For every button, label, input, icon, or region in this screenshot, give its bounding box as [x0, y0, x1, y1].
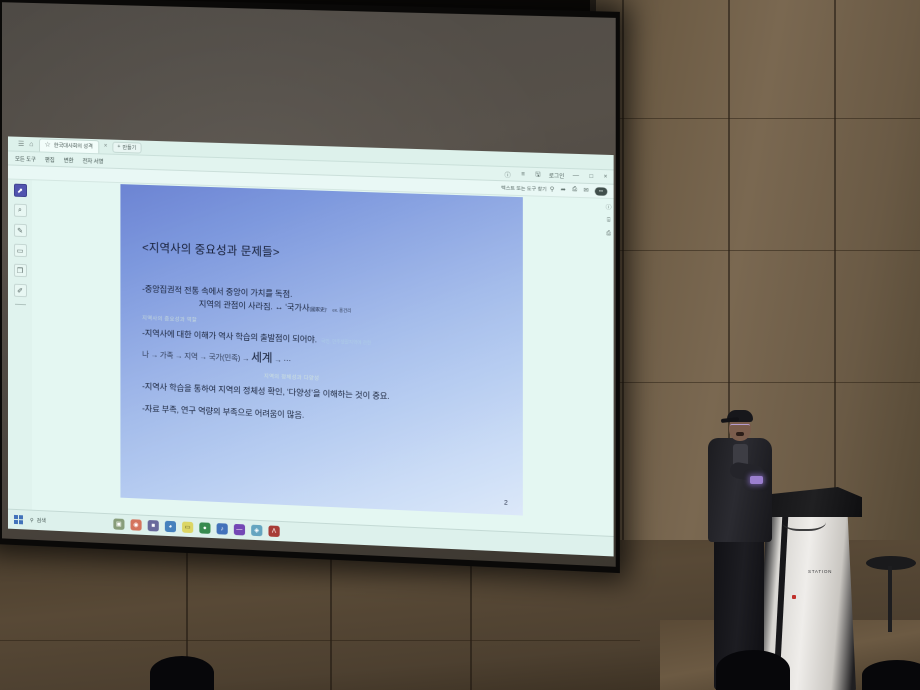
tools-rail-icon[interactable]: ⎙ — [606, 231, 611, 238]
photos-icon[interactable]: ◈ — [251, 525, 262, 537]
presenter — [700, 404, 782, 690]
signature-tool-button[interactable]: ✐ — [13, 284, 26, 297]
signature-icon: ✐ — [17, 286, 23, 294]
list-icon[interactable]: ≡ — [519, 172, 527, 178]
audience-head-1 — [150, 656, 214, 690]
toolbar-divider — [14, 304, 25, 305]
audience-head-2 — [716, 650, 790, 690]
pdf-viewer-window[interactable]: hamburger-icon ☰ ⌂ ☆ 한국대사회의 성격 × + 만들기 모… — [8, 136, 614, 556]
search-field[interactable]: 텍스트 또는 도구 찾기 ⚲ — [501, 184, 554, 193]
page-pane[interactable]: <지역사의 중요성과 문제들> -중앙집권적 전통 속에서 중앙이 가치를 독점… — [32, 180, 614, 556]
progression-tail: → ⋯ — [272, 355, 290, 365]
new-tab-button[interactable]: + 만들기 — [112, 141, 141, 153]
menu-glyph[interactable]: ☰ — [18, 140, 24, 147]
search-placeholder: 텍스트 또는 도구 찾기 — [501, 184, 546, 193]
signin-label[interactable]: 로그인 — [549, 171, 565, 180]
gallery-icon[interactable]: ▣ — [113, 518, 124, 530]
account-pill[interactable]: •• — [595, 187, 607, 196]
tab-title: 한국대사회의 성격 — [54, 142, 93, 150]
edge-icon[interactable]: ◕ — [165, 521, 176, 533]
save-icon[interactable]: 🖫 — [533, 170, 542, 181]
star-icon: ☆ — [45, 142, 51, 149]
projection-screen: hamburger-icon ☰ ⌂ ☆ 한국대사회의 성격 × + 만들기 모… — [0, 0, 620, 573]
slide-line-2-hanja: (國家史)’ — [309, 307, 327, 313]
viewer-body: ⬈ ⌕ ✎ ▭ ❐ ✐ — [8, 179, 614, 556]
menu-item-convert[interactable]: 변환 — [64, 156, 74, 164]
home-icon[interactable]: ⌂ — [29, 141, 33, 148]
chrome-icon[interactable]: ◉ — [130, 519, 141, 531]
menu-item-esign[interactable]: 전자 서명 — [82, 156, 103, 165]
slide-page-number: 2 — [504, 499, 508, 506]
info-rail-icon[interactable]: ⓘ — [606, 203, 612, 211]
slide-title: <지역사의 중요성과 문제들> — [142, 239, 501, 268]
taskbar-search[interactable]: ⚲ 검색 — [30, 517, 46, 525]
music-icon[interactable]: ♪ — [216, 523, 227, 535]
presenter-mouth — [736, 432, 744, 436]
comment-tool-button[interactable]: ▭ — [13, 244, 26, 257]
acrobat-icon[interactable]: Λ — [268, 525, 279, 537]
select-tool-button[interactable]: ⬈ — [13, 184, 26, 197]
left-toolbar: ⬈ ⌕ ✎ ▭ ❐ ✐ — [8, 179, 32, 529]
slide-line-3-tail: 국민, 민주생활지역에 관한 — [321, 338, 371, 345]
info-icon[interactable]: ⓘ — [502, 169, 512, 179]
cursor-icon: ⬈ — [17, 186, 23, 194]
folder-icon[interactable]: ▭ — [182, 522, 193, 534]
right-rail: ⓘ ⌸ ⎙ — [606, 203, 612, 238]
lecture-hall-scene: hamburger-icon ☰ ⌂ ☆ 한국대사회의 성격 × + 만들기 모… — [0, 0, 920, 690]
office-icon[interactable]: ● — [199, 522, 210, 534]
comment-icon[interactable]: ✉ — [583, 187, 588, 194]
new-tab-label: 만들기 — [122, 143, 136, 150]
share-icon[interactable]: ➦ — [561, 186, 566, 193]
zoom-tool-button[interactable]: ⌕ — [13, 204, 26, 217]
slide-line-3-text: -지역사에 대한 이해가 역사 학습의 출발점이 되어야. — [142, 329, 317, 345]
menu-item-edit[interactable]: 편집 — [45, 155, 55, 163]
highlight-tool-button[interactable]: ✎ — [13, 224, 26, 237]
close-button[interactable]: × — [602, 174, 610, 180]
teams-icon[interactable]: ■ — [148, 520, 159, 532]
taskbar-search-label: 검색 — [37, 517, 46, 524]
print-icon[interactable]: ⎙ — [572, 187, 577, 194]
search-icon[interactable]: ⚲ — [550, 186, 555, 193]
slide-page: <지역사의 중요성과 문제들> -중앙집권적 전통 속에서 중앙이 가치를 독점… — [120, 184, 522, 515]
presenter-glasses — [730, 424, 750, 428]
podium-indicator — [792, 595, 796, 599]
plus-icon: + — [117, 144, 120, 150]
slide-line-2-annotation: ex. 홍건리 — [332, 307, 351, 313]
magnifier-icon: ⌕ — [18, 206, 22, 214]
slide-line-2-text: 지역의 관점이 사라짐. ↔ ‘국가사 — [199, 300, 310, 313]
purple-app-icon[interactable]: — — [234, 524, 245, 536]
progression-emphasis: 세계 — [251, 352, 272, 365]
minimize-button[interactable]: — — [571, 173, 581, 179]
podium-cables — [782, 509, 826, 531]
podium-brand-label: STATION — [808, 569, 832, 574]
progression-chain: 나 → 가족 → 지역 → 국가(민족) → — [142, 350, 251, 363]
presenter-clicker — [750, 476, 763, 484]
comment-bubble-icon: ▭ — [17, 246, 24, 254]
pages-rail-icon[interactable]: ⌸ — [607, 217, 610, 224]
pen-icon: ✎ — [17, 226, 23, 234]
taskbar-apps: ▣ ◉ ■ ◕ ▭ ● ♪ — ◈ Λ — [113, 518, 279, 537]
stamp-tool-button[interactable]: ❐ — [13, 264, 26, 277]
audience-head-3 — [862, 660, 920, 690]
tab-close-icon[interactable]: × — [104, 143, 108, 149]
stool-leg — [888, 566, 892, 632]
menu-item-all-tools[interactable]: 모든 도구 — [15, 154, 36, 163]
maximize-button[interactable]: □ — [587, 174, 595, 180]
document-tab[interactable]: ☆ 한국대사회의 성격 — [39, 138, 99, 153]
search-icon: ⚲ — [30, 517, 34, 523]
stamp-icon: ❐ — [17, 266, 23, 274]
windows-logo-icon[interactable] — [14, 515, 23, 524]
